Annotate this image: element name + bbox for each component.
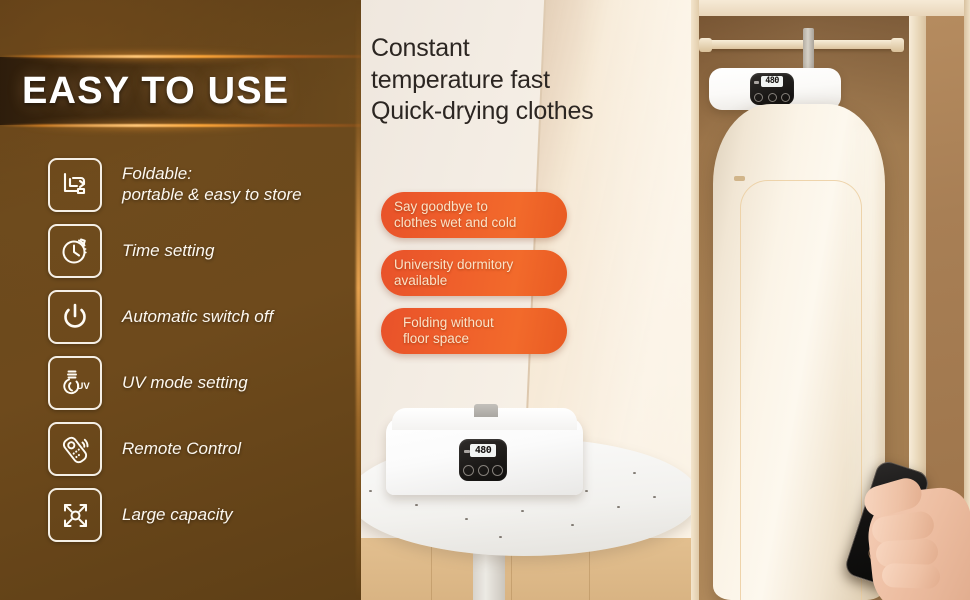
feature-label: Large capacity (122, 505, 233, 526)
mode-button[interactable] (781, 93, 790, 102)
control-panel[interactable]: 480 (750, 73, 794, 105)
power-indicator-icon (754, 81, 759, 84)
unit-handle-nub (474, 404, 498, 417)
badge-label: University dormitory available (394, 257, 513, 289)
benefit-badge-list: Say goodbye to clothes wet and cold Univ… (381, 192, 581, 354)
timer-button[interactable] (478, 465, 489, 476)
finger-little (882, 563, 941, 589)
banner-glow-top (0, 55, 361, 58)
rail-bracket-left (699, 38, 712, 52)
remote-icon (48, 422, 102, 476)
power-button[interactable] (463, 465, 474, 476)
feature-list: Foldable: portable & easy to store Time … (48, 162, 348, 538)
rail-bracket-right (891, 38, 904, 52)
left-features-panel: EASY TO USE Foldable: portable & easy to… (0, 0, 361, 600)
feature-item-large-capacity: Large capacity (48, 492, 348, 538)
control-button-group (750, 93, 794, 102)
badge-label: Say goodbye to clothes wet and cold (394, 199, 516, 231)
product-feature-banner: EASY TO USE Foldable: portable & easy to… (0, 0, 970, 600)
right-scene-panel: 480 (691, 0, 970, 600)
feature-item-remote-control: Remote Control (48, 426, 348, 472)
center-product-panel: Constant temperature fast Quick-drying c… (361, 0, 691, 600)
benefit-badge: Say goodbye to clothes wet and cold (381, 192, 567, 238)
display-readout: 480 (470, 444, 496, 457)
feature-label: Foldable: portable & easy to store (122, 164, 302, 205)
headline-text: Constant temperature fast Quick-drying c… (371, 33, 681, 128)
feature-label: Automatic switch off (122, 307, 273, 328)
mode-button[interactable] (492, 465, 503, 476)
folded-dryer-unit: 480 (386, 417, 583, 495)
power-icon (48, 290, 102, 344)
feature-label: Time setting (122, 241, 214, 262)
hand-holding-remote (846, 456, 970, 600)
bag-zipper-seam (740, 180, 862, 600)
title-banner: EASY TO USE (0, 57, 361, 125)
feature-item-foldable: Foldable: portable & easy to store (48, 162, 348, 208)
page-title: EASY TO USE (22, 70, 289, 113)
benefit-badge: University dormitory available (381, 250, 567, 296)
wardrobe-frame-left (691, 0, 699, 600)
control-panel[interactable]: 480 (459, 439, 507, 481)
wardrobe-top-edge (691, 0, 970, 16)
control-button-group (459, 465, 507, 476)
feature-label: Remote Control (122, 439, 241, 460)
expand-icon (48, 488, 102, 542)
feature-label: UV mode setting (122, 373, 248, 394)
power-indicator-icon (464, 450, 470, 453)
clock-icon (48, 224, 102, 278)
badge-label: Folding without floor space (403, 315, 494, 347)
foldable-icon (48, 158, 102, 212)
bag-zipper-pull (734, 176, 745, 181)
benefit-badge: Folding without floor space (381, 308, 567, 354)
uv-bulb-icon: UV (48, 356, 102, 410)
feature-item-time-setting: Time setting (48, 228, 348, 274)
feature-item-auto-switch-off: Automatic switch off (48, 294, 348, 340)
banner-glow-bottom (0, 124, 361, 127)
feature-item-uv-mode: UV UV mode setting (48, 360, 348, 406)
power-button[interactable] (754, 93, 763, 102)
display-readout: 480 (761, 76, 783, 87)
timer-button[interactable] (768, 93, 777, 102)
svg-text:UV: UV (77, 381, 91, 392)
